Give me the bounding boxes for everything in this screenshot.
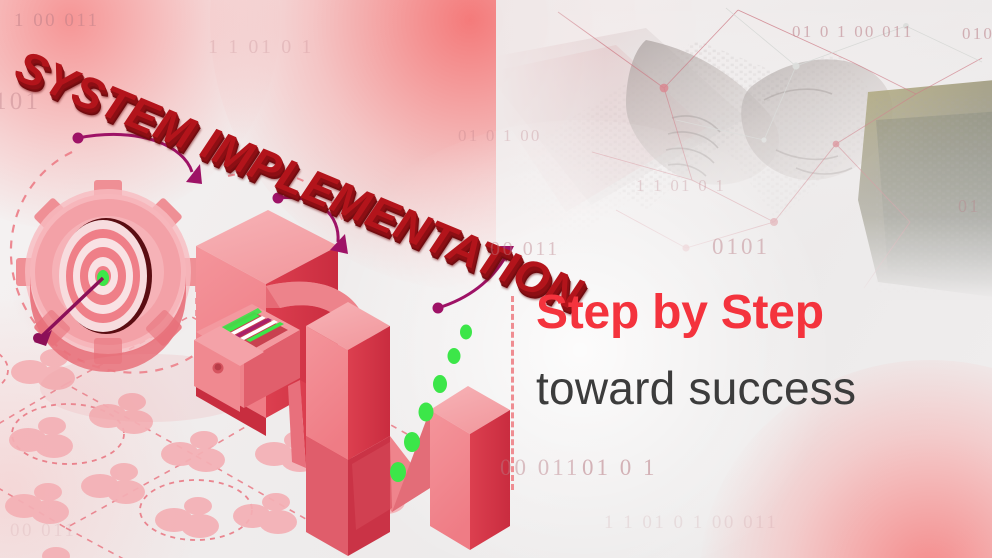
- tagline-secondary: toward success: [536, 364, 976, 412]
- binary-digits: 00 011: [490, 238, 560, 261]
- binary-digits: 01 0 1 00 011: [792, 22, 914, 42]
- binary-digits: 01 0 1: [582, 455, 657, 481]
- binary-digits: 1 1 01 0 1: [636, 176, 726, 196]
- binary-digits: 1 00 011: [14, 10, 100, 32]
- letter-m-3d: [306, 302, 510, 556]
- binary-digits: 101: [0, 88, 41, 116]
- binary-digits: 1 1 01 0 1: [208, 36, 314, 59]
- binary-digits: 0101: [712, 234, 770, 260]
- tagline-primary: Step by Step: [536, 288, 976, 338]
- binary-digits: 1 1 01 0 1 00 011: [604, 512, 778, 534]
- tagline-block: Step by Step toward success: [536, 288, 976, 412]
- vertical-dashed-divider: [511, 296, 514, 490]
- binary-digits: 0101: [962, 24, 992, 44]
- binary-digits: 01: [958, 196, 981, 217]
- poster-canvas: SYSTEM IMPLEMENTATION 1 00 0111 1 01 0 1…: [0, 0, 992, 558]
- binary-digits: 01 0 1 00: [458, 126, 542, 146]
- dartboard-target: [59, 218, 152, 334]
- binary-digits: 00 011: [10, 520, 76, 542]
